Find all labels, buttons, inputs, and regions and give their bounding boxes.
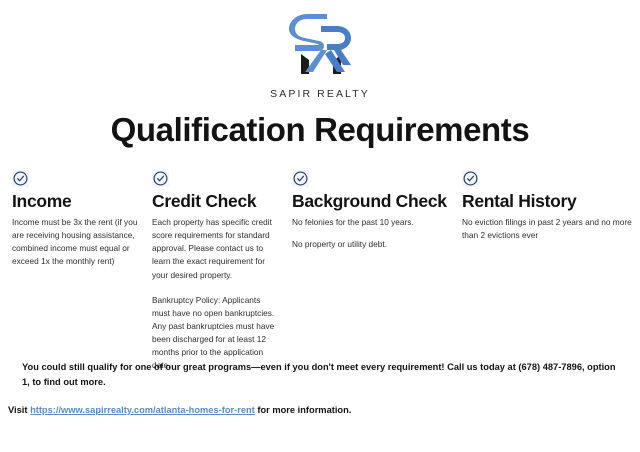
column-heading: Background Check — [292, 191, 452, 211]
column-paragraph: No property or utility debt. — [292, 238, 452, 251]
visit-prefix: Visit — [8, 405, 30, 415]
visit-suffix: for more information. — [255, 405, 352, 415]
website-link[interactable]: https://www.sapirrealty.com/atlanta-home… — [30, 405, 255, 415]
page-title: Qualification Requirements — [0, 112, 640, 148]
circle-check-icon — [152, 170, 169, 187]
brand-wordmark: SAPIR REALTY — [0, 88, 640, 100]
column-heading: Rental History — [462, 191, 634, 211]
column-heading: Credit Check — [152, 191, 280, 211]
footer-visit-line: Visit https://www.sapirrealty.com/atlant… — [8, 404, 628, 418]
requirement-column-income: Income Income must be 3x the rent (if yo… — [12, 170, 138, 269]
brand-logo: SAPIR REALTY — [0, 12, 640, 100]
qualification-requirements-page: SAPIR REALTY Qualification Requirements … — [0, 0, 640, 452]
column-paragraph: No eviction filings in past 2 years and … — [462, 216, 634, 242]
column-paragraph: Each property has specific credit score … — [152, 216, 280, 281]
column-paragraph: Income must be 3x the rent (if you are r… — [12, 216, 138, 268]
requirement-column-credit-check: Credit Check Each property has specific … — [152, 170, 280, 372]
circle-check-icon — [12, 170, 29, 187]
requirement-column-background-check: Background Check No felonies for the pas… — [292, 170, 452, 251]
circle-check-icon — [462, 170, 479, 187]
sapir-realty-sr-monogram-icon — [281, 12, 359, 86]
column-paragraph: No felonies for the past 10 years. — [292, 216, 452, 229]
circle-check-icon — [292, 170, 309, 187]
requirement-column-rental-history: Rental History No eviction filings in pa… — [462, 170, 634, 242]
footer-qualify-note: You could still qualify for one of our g… — [22, 360, 622, 390]
requirements-columns: Income Income must be 3x the rent (if yo… — [0, 170, 640, 350]
column-heading: Income — [12, 191, 138, 211]
